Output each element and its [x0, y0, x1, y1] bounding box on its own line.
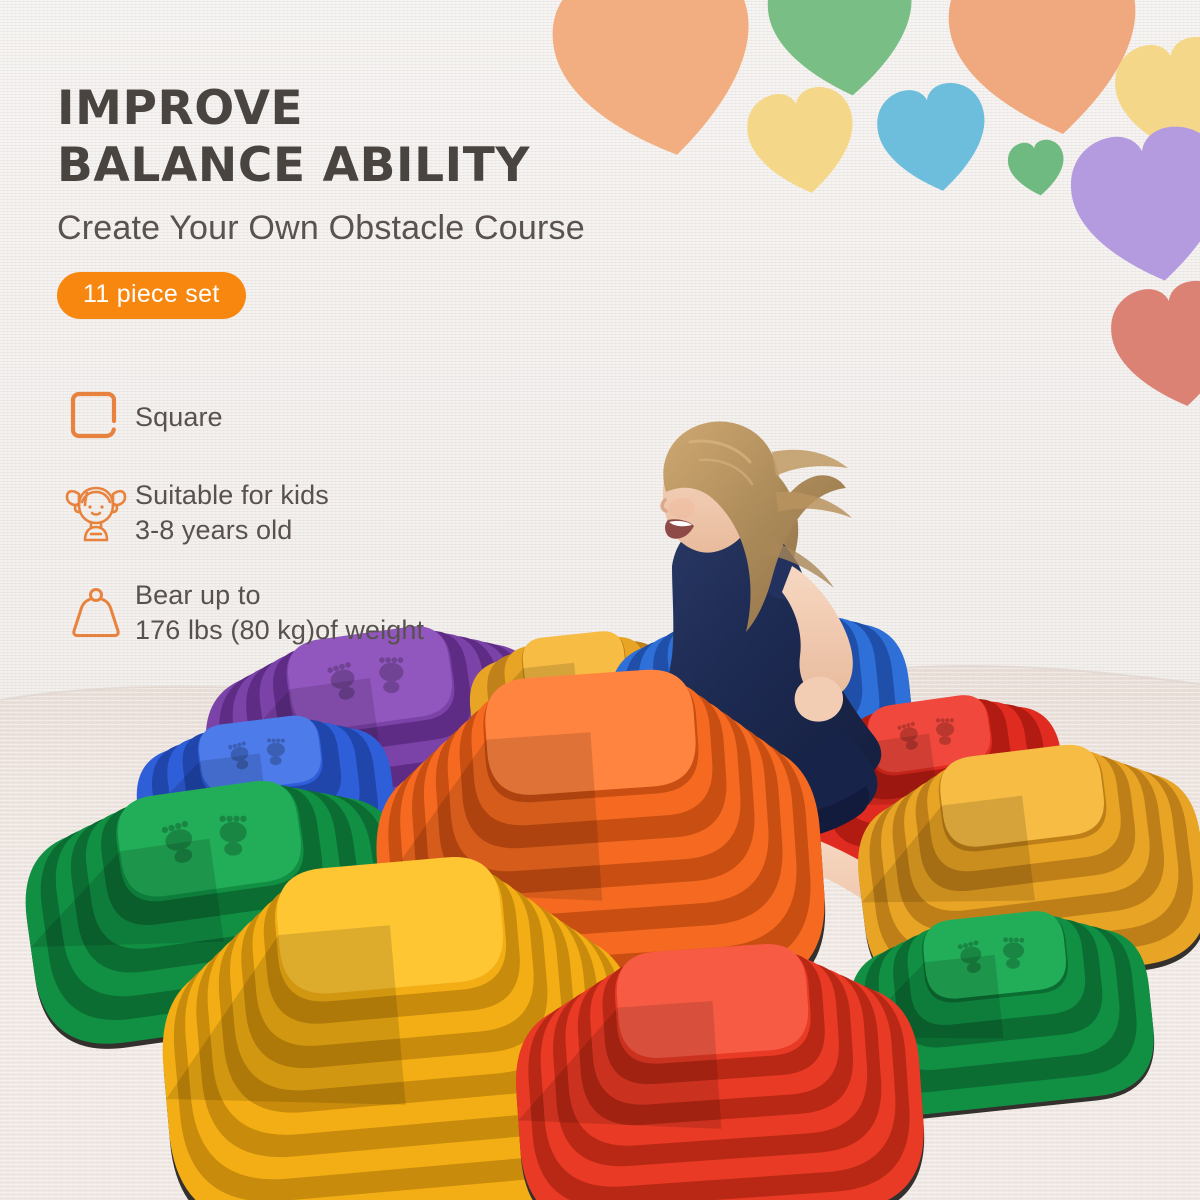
stepping-stones-foreground: [0, 0, 1200, 1200]
product-marketing-banner: IMPROVE BALANCE ABILITY Create Your Own …: [0, 0, 1200, 1200]
